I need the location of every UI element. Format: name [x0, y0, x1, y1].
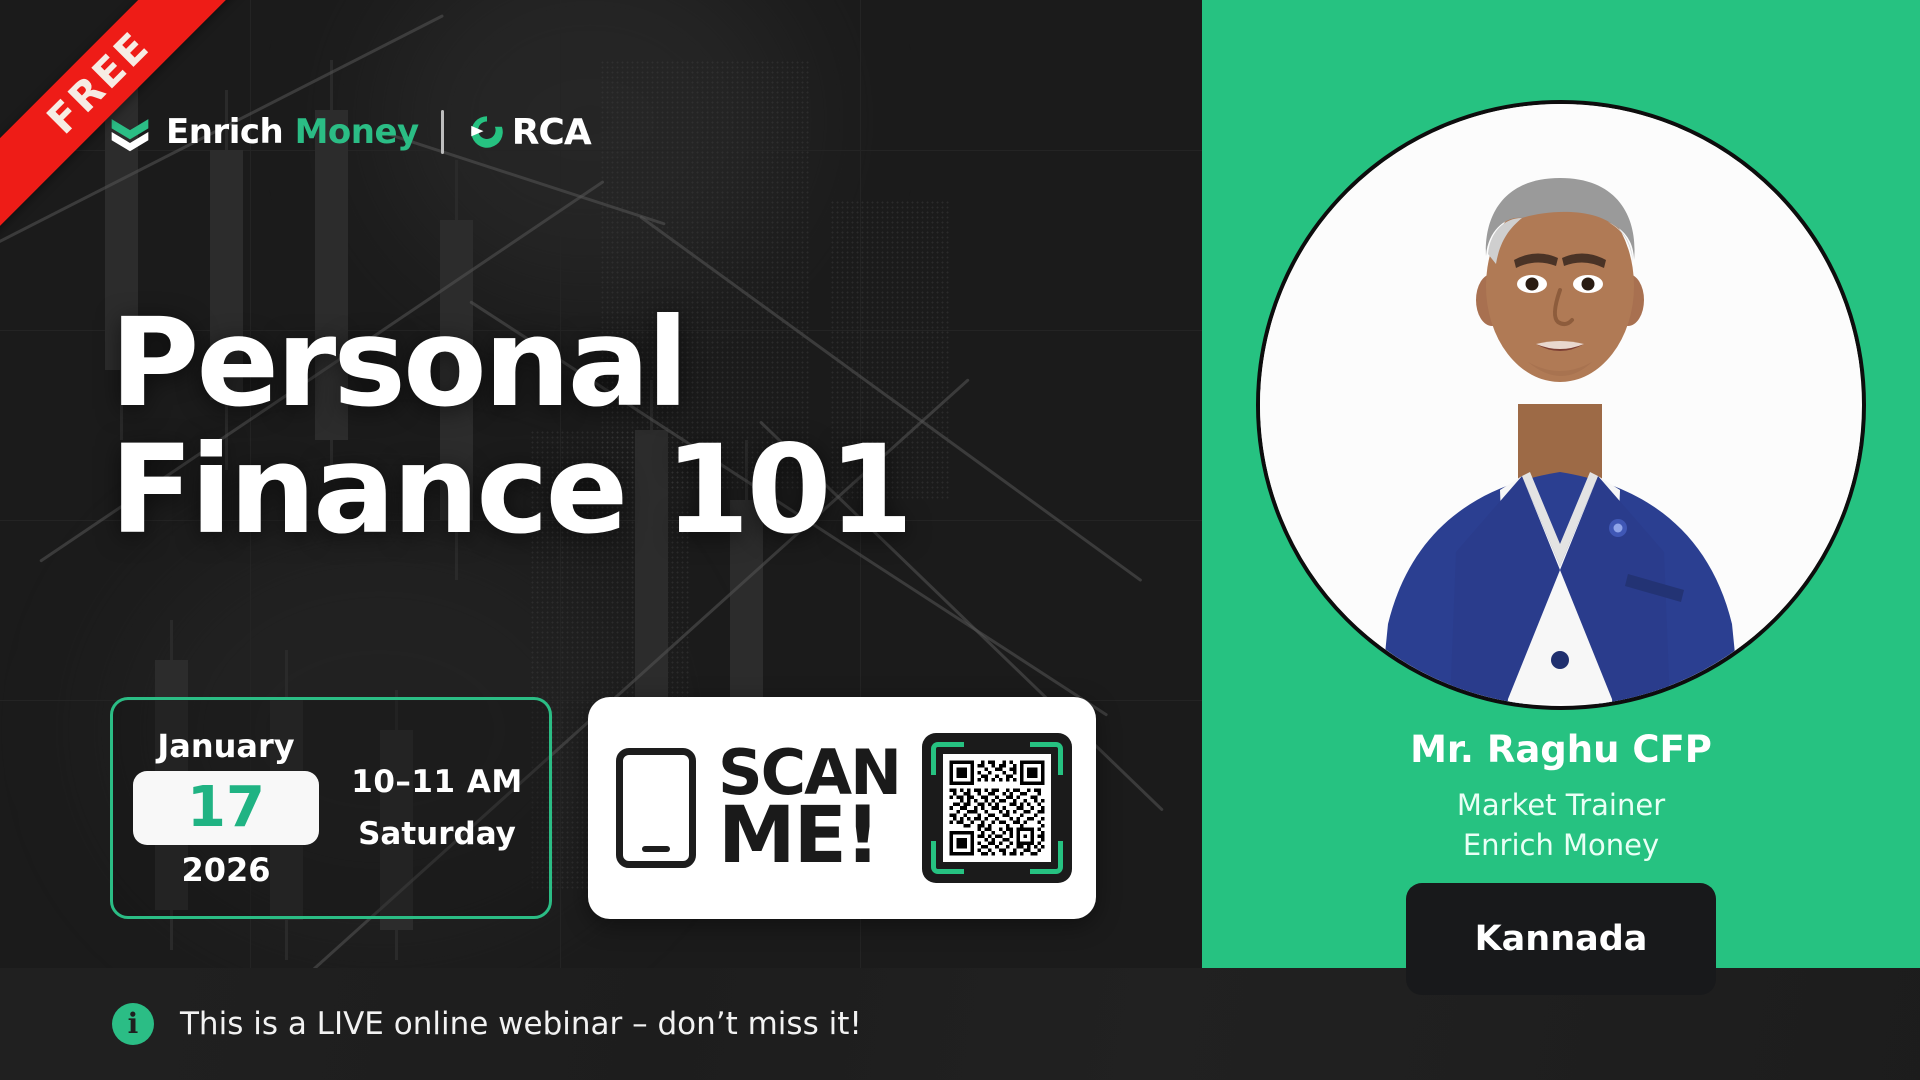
- brand-logo[interactable]: Enrich Money RCA: [108, 110, 591, 154]
- brand-name-enrich: Enrich: [166, 112, 283, 152]
- speaker-portrait-illustration: [1260, 104, 1860, 704]
- page-title: Personal Finance 101: [110, 300, 910, 554]
- qr-code-icon[interactable]: [922, 733, 1072, 883]
- event-day-box: 17: [133, 771, 319, 845]
- info-icon-glyph: i: [128, 1010, 139, 1038]
- event-year: 2026: [181, 851, 270, 889]
- event-day: 17: [187, 780, 265, 836]
- scan-me-label: SCAN ME!: [718, 744, 900, 873]
- date-block: January 17 2026: [113, 727, 325, 889]
- event-time: 10–11 AM: [351, 764, 522, 800]
- speaker-role-line-2: Enrich Money: [1202, 825, 1920, 865]
- info-icon: i: [112, 1003, 154, 1045]
- event-date-card: January 17 2026 10–11 AM Saturday: [110, 697, 552, 919]
- partner-wordmark: RCA: [512, 112, 591, 153]
- chevron-stack-icon: [108, 110, 152, 154]
- event-month: January: [157, 727, 294, 765]
- scan-me-panel[interactable]: SCAN ME!: [588, 697, 1096, 919]
- logo-divider: [441, 110, 444, 154]
- brand-wordmark: Enrich Money: [166, 112, 419, 152]
- orca-ring-icon: [466, 111, 508, 153]
- speaker-role-line-1: Market Trainer: [1202, 785, 1920, 825]
- event-weekday: Saturday: [358, 816, 516, 852]
- webinar-promo-banner: FREE Enrich Money RCA Personal Finance 1…: [0, 0, 1920, 1080]
- title-line-2: Finance 101: [110, 427, 910, 554]
- scan-word-line-2: ME!: [718, 801, 900, 873]
- title-line-1: Personal: [110, 292, 686, 434]
- speaker-name: Mr. Raghu CFP: [1202, 728, 1920, 771]
- language-badge: Kannada: [1406, 883, 1716, 995]
- speaker-role: Market Trainer Enrich Money: [1202, 785, 1920, 865]
- language-badge-label: Kannada: [1475, 919, 1648, 959]
- mobile-phone-icon: [616, 748, 696, 868]
- time-block: 10–11 AM Saturday: [325, 764, 549, 852]
- speaker-panel: Mr. Raghu CFP Market Trainer Enrich Mone…: [1202, 0, 1920, 968]
- speaker-portrait-avatar: [1256, 100, 1866, 710]
- footer-note-text: This is a LIVE online webinar – don’t mi…: [180, 1006, 862, 1042]
- brand-name-money: Money: [295, 112, 419, 152]
